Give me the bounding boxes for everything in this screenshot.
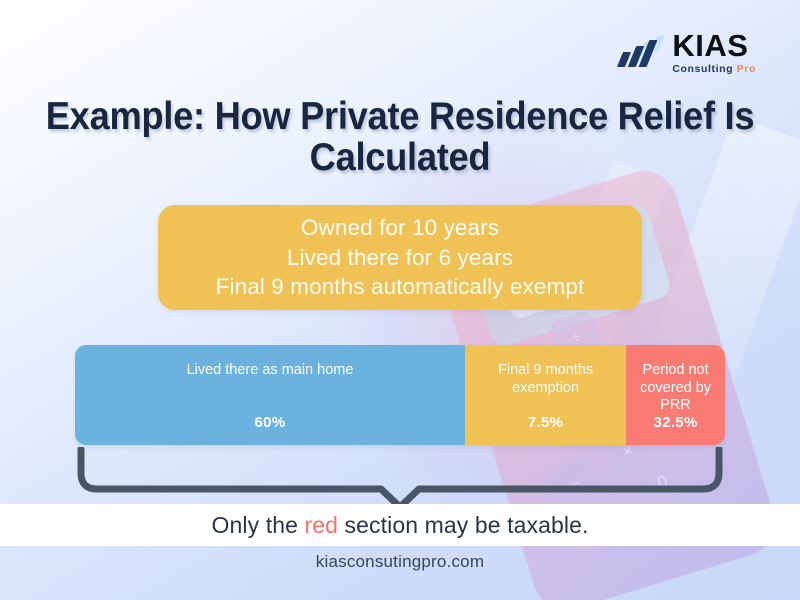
bar-segment-value: 60% [255, 414, 286, 431]
brand-logo: KIAS Consulting Pro [619, 30, 756, 75]
brand-tagline: Consulting Pro [672, 64, 756, 75]
assumption-line-3: Final 9 months automatically exempt [216, 273, 585, 301]
bar-segment-value: 7.5% [528, 414, 563, 431]
bar-segment-not-covered: Period not covered by PRR 32.5% [626, 345, 725, 445]
footer-url: kiasconsutingpro.com [0, 552, 800, 572]
caption-text: Only the red section may be taxable. [212, 512, 589, 539]
assumptions-card: Owned for 10 years Lived there for 6 yea… [158, 205, 642, 310]
bracket-connector [75, 447, 725, 509]
bar-segment-final-nine-months: Final 9 months exemption 7.5% [465, 345, 626, 445]
brand-name: KIAS [672, 30, 756, 61]
caption-before: Only the [212, 512, 305, 538]
assumption-line-1: Owned for 10 years [301, 214, 499, 242]
stacked-bar-chart: Lived there as main home 60% Final 9 mon… [75, 345, 725, 445]
page-title: Example: How Private Residence Relief Is… [28, 96, 772, 179]
brand-logo-text: KIAS Consulting Pro [672, 30, 756, 75]
bar-segment-value: 32.5% [654, 414, 698, 431]
brand-tagline-primary: Consulting [672, 63, 733, 75]
bar-segment-label: Final 9 months exemption [465, 362, 626, 397]
bar-segment-label: Lived there as main home [179, 362, 362, 380]
caption-highlight: red [304, 512, 338, 538]
caption-after: section may be taxable. [338, 512, 588, 538]
caption-band: Only the red section may be taxable. [0, 504, 800, 546]
slanted-bars-logo-icon [619, 35, 665, 69]
assumption-line-2: Lived there for 6 years [287, 244, 513, 272]
brand-tagline-accent: Pro [737, 63, 756, 75]
infographic-canvas: % CE 2 1 0 ÷ × − KIAS Consulting Pro Exa… [0, 0, 800, 600]
bar-segment-main-home: Lived there as main home 60% [75, 345, 465, 445]
bar-segment-label: Period not covered by PRR [626, 362, 725, 415]
